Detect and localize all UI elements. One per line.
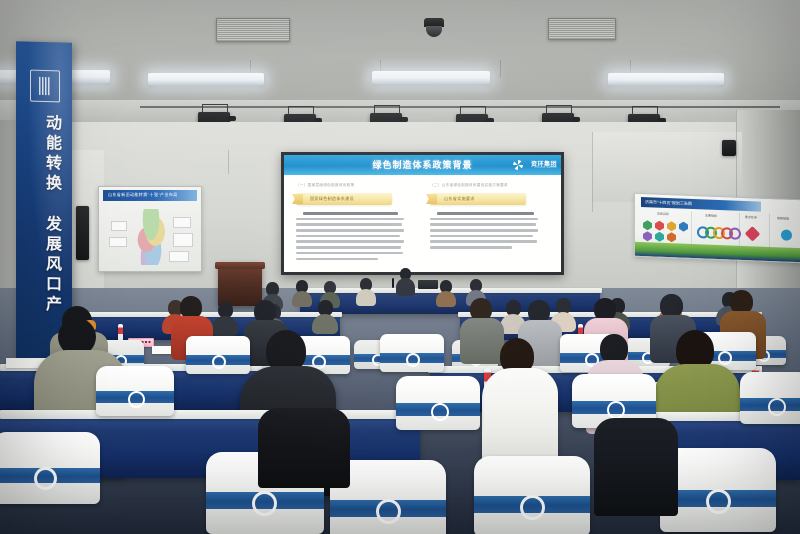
ceiling-light — [148, 73, 264, 85]
map-label — [173, 233, 193, 247]
poster-diamond-icon — [781, 229, 792, 240]
dome-camera-icon — [424, 18, 444, 27]
light-hanger — [500, 60, 501, 78]
banner-text: 动能转换 发展风口产 — [28, 114, 62, 365]
slide-paragraph — [296, 212, 404, 260]
poster-badge-icon — [643, 231, 652, 241]
wall-speaker — [722, 140, 736, 156]
chair — [186, 336, 250, 374]
slide-ribbon-text: 山东省实施要求 — [444, 196, 475, 202]
projection-screen: 绿色制造体系政策背景 资环集团 ZIHUAN GROUP （一）国家层面绿色制造… — [281, 152, 564, 275]
chair — [740, 372, 800, 424]
chair — [380, 334, 444, 372]
attendee-table-top — [88, 312, 342, 317]
torso — [258, 408, 350, 488]
chair — [396, 376, 480, 430]
slide-ribbon-heading: 山东省实施要求 — [430, 193, 526, 205]
poster-header-text: 山东省新旧动能转换"十强"产业布局 — [108, 192, 178, 198]
company-logo-subtext: ZIHUAN GROUP — [534, 166, 557, 169]
torso — [594, 418, 678, 516]
poster-ring-icon — [729, 227, 741, 239]
torso — [212, 316, 238, 336]
poster-divider — [769, 214, 770, 248]
poster-divider — [691, 211, 692, 245]
conference-room-photo: 山东省新旧动能转换"十强"产业布局 济南市"十四五"规划三张图 总体目标 主要指… — [0, 0, 800, 534]
foreground-table-top — [0, 410, 422, 419]
poster-badge-icon — [667, 232, 676, 242]
torso — [396, 278, 415, 296]
torso — [312, 314, 338, 334]
poster-badge-icon — [667, 221, 676, 231]
microphone — [392, 278, 394, 288]
slide-column-right: （二）山东省绿色制造体系建设实施方案要求 山东省实施要求 — [424, 183, 544, 252]
slide-ribbon-text: 国家绿色制造体系建设 — [310, 196, 354, 202]
poster-column-label: 主要指标 — [705, 214, 717, 218]
chair-buckle-icon — [128, 391, 145, 408]
poster-badge-icon — [655, 232, 664, 242]
poster-header-text: 济南市"十四五"规划三张图 — [645, 199, 692, 207]
chair-buckle-icon — [718, 351, 732, 365]
slide-header: 绿色制造体系政策背景 资环集团 ZIHUAN GROUP — [284, 155, 561, 175]
map-label — [169, 251, 189, 262]
air-vent-icon — [548, 18, 616, 40]
laptop — [418, 280, 438, 289]
map-label — [173, 217, 191, 228]
slide-ribbon-heading: 国家绿色制造体系建设 — [296, 193, 392, 205]
poster-badge-icon — [643, 220, 652, 230]
chair-buckle-icon — [607, 401, 625, 419]
chair-buckle-icon — [376, 499, 401, 524]
pinwheel-star-icon — [513, 160, 523, 170]
lectern — [218, 262, 262, 306]
chair-buckle-icon — [768, 398, 786, 416]
map-label — [111, 221, 127, 231]
slide-column-left: （一）国家层面绿色制造体系政策 国家绿色制造体系建设 — [290, 183, 410, 263]
chair-buckle-icon — [252, 491, 277, 516]
torso — [292, 291, 312, 307]
wall-seam — [592, 132, 593, 212]
torso — [436, 291, 456, 307]
wall-speaker — [76, 206, 89, 260]
slide-paragraph — [430, 212, 538, 249]
chair-buckle-icon — [706, 489, 731, 514]
slide-column-lead: （一）国家层面绿色制造体系政策 — [296, 183, 410, 188]
chair-buckle-icon — [212, 355, 226, 369]
wall-poster-map: 山东省新旧动能转换"十强"产业布局 — [98, 186, 202, 272]
torso — [460, 318, 504, 364]
presentation-slide: 绿色制造体系政策背景 资环集团 ZIHUAN GROUP （一）国家层面绿色制造… — [284, 155, 561, 272]
poster-column-label: 保障措施 — [777, 216, 789, 220]
wall-seam — [228, 150, 229, 174]
map-label — [109, 237, 127, 247]
chair — [96, 366, 174, 416]
poster-badge-icon — [679, 222, 688, 232]
wall-panel — [592, 132, 742, 202]
chair-buckle-icon — [431, 403, 449, 421]
poster-diamond-icon — [745, 226, 761, 242]
chair-buckle-icon — [520, 495, 545, 520]
banner-emblem-icon — [30, 70, 60, 103]
slide-body: （一）国家层面绿色制造体系政策 国家绿色制造体系建设 — [284, 175, 561, 272]
wall-poster-chart: 济南市"十四五"规划三张图 总体目标 主要指标 重点任务 保障措施 — [634, 193, 800, 263]
chair — [474, 456, 590, 534]
poster-header-bar: 济南市"十四五"规划三张图 — [641, 197, 761, 212]
ceiling-light — [372, 71, 490, 84]
slide-column-lead: （二）山东省绿色制造体系建设实施方案要求 — [430, 183, 544, 188]
air-vent-icon — [216, 18, 290, 42]
poster-column-label: 总体目标 — [657, 212, 669, 216]
poster-badge-icon — [655, 221, 664, 231]
chair-buckle-icon — [34, 467, 57, 490]
chair-buckle-icon — [406, 353, 420, 367]
ceiling-light — [608, 73, 724, 85]
province-map-graphic — [133, 209, 169, 265]
poster-header-bar: 山东省新旧动能转换"十强"产业布局 — [103, 190, 197, 201]
poster-column-label: 重点任务 — [745, 215, 757, 219]
chair — [0, 432, 100, 504]
torso — [356, 289, 376, 306]
